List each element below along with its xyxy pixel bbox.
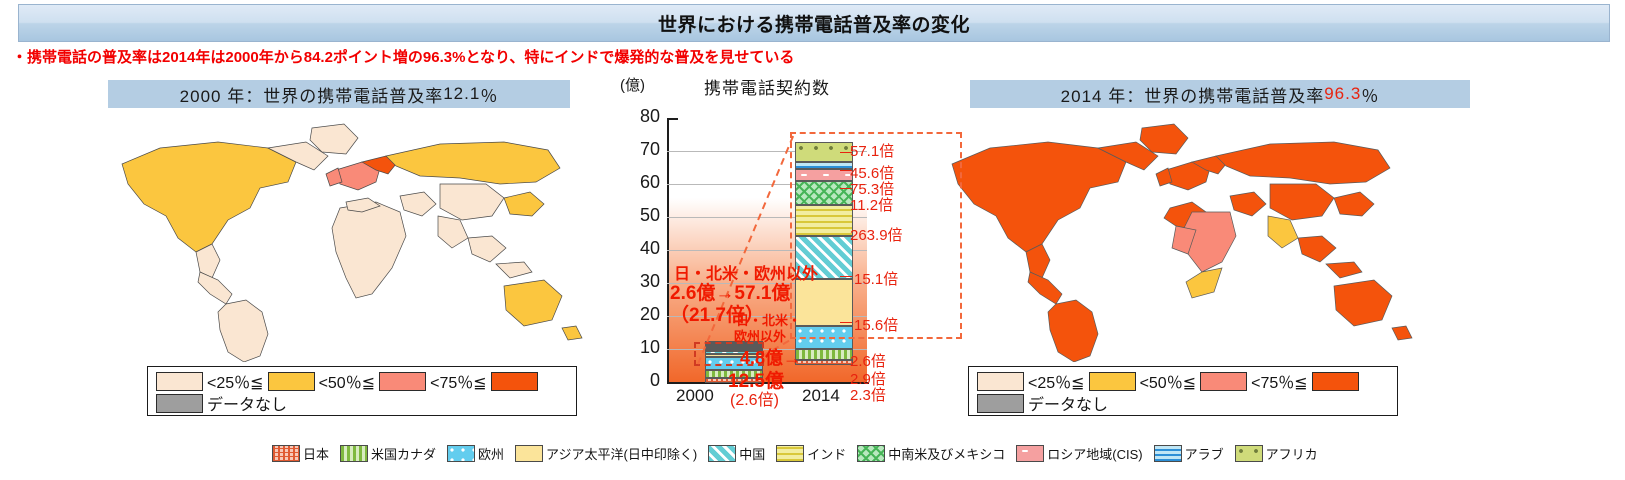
world-map-2000 [100, 112, 600, 362]
legend-item-russia: ロシア地域(CIS) [1016, 444, 1142, 463]
leader-china [840, 276, 852, 277]
legend-item-arab: アラブ [1154, 444, 1224, 463]
map-right-header-value: 96.3 [1324, 84, 1361, 104]
y-tick-80: 80 [620, 106, 660, 127]
map-legend-scale-row: <25％≦ <50％≦ <75％≦ [156, 370, 568, 392]
legend-text-china: 中国 [739, 444, 765, 463]
legend-swatch-gte75 [1312, 372, 1359, 391]
world-map-2014 [930, 112, 1510, 362]
growth-latam: 11.2倍 [850, 194, 893, 215]
legend-label-nodata: データなし [207, 391, 287, 415]
y-tick-30: 30 [620, 271, 660, 292]
legend-swatch-usca [340, 445, 368, 462]
y-tick-60: 60 [620, 172, 660, 193]
map-left-header: 2000 年：世界の携帯電話普及率 12.1％ [108, 80, 570, 108]
legend-swatch-arab [1154, 445, 1182, 462]
growth-china: 15.1倍 [854, 268, 898, 289]
legend-label-lt75: <75％≦ [1251, 369, 1308, 393]
legend-text-arab: アラブ [1185, 444, 1224, 463]
legend-swatch-india [776, 445, 804, 462]
leader-russia [840, 170, 852, 171]
legend-swatch-gte75 [491, 372, 538, 391]
growth-india: 263.9倍 [850, 224, 903, 245]
map-right-header-suffix: ％ [1361, 82, 1379, 107]
map-right-header-prefix: 2014 年：世界の携帯電話普及率 [1061, 82, 1325, 107]
legend-swatch-africa [1235, 445, 1263, 462]
map-legend-nodata-row-2: データなし [977, 392, 1389, 414]
legend-text-africa: アフリカ [1266, 444, 1318, 463]
legend-swatch-asia [515, 445, 543, 462]
x-tick-2014: 2014 [802, 386, 840, 406]
legend-swatch-lt25 [977, 372, 1024, 391]
leader-asia [840, 322, 852, 323]
leader-latam [840, 188, 852, 189]
annotation-small-line2: 欧州以外 [734, 326, 786, 345]
legend-swatch-europe [447, 445, 475, 462]
legend-item-japan: 日本 [272, 444, 329, 463]
chart-unit-label: (億) [620, 74, 645, 95]
legend-label-lt25: <25％≦ [207, 369, 264, 393]
legend-label-lt50: <50％≦ [1140, 369, 1197, 393]
legend-swatch-lt75 [1200, 372, 1247, 391]
page-title-bar: 世界における携帯電話普及率の変化 [18, 4, 1610, 42]
map-right-legend: <25％≦ <50％≦ <75％≦ データなし [968, 366, 1398, 416]
leader-arab [840, 152, 852, 153]
mobile-subscriptions-chart: (億) 携帯電話契約数 [612, 74, 964, 414]
x-tick-2000: 2000 [676, 386, 714, 406]
legend-item-india: インド [776, 444, 846, 463]
legend-swatch-lt50 [1089, 372, 1136, 391]
map-legend-nodata-row: データなし [156, 392, 568, 414]
legend-swatch-latam [857, 445, 885, 462]
map-left-header-prefix: 2000 年：世界の携帯電話普及率 [180, 82, 444, 107]
y-tick-40: 40 [620, 238, 660, 259]
legend-swatch-lt50 [268, 372, 315, 391]
legend-item-africa: アフリカ [1235, 444, 1318, 463]
y-axis-top-tick [667, 118, 678, 120]
growth-japan: 2.3倍 [850, 384, 886, 405]
legend-item-latam: 中南米及びメキシコ [857, 444, 1005, 463]
segment-2014-japan [795, 360, 853, 365]
legend-label-lt50: <50％≦ [319, 369, 376, 393]
legend-item-china: 中国 [708, 444, 765, 463]
y-tick-70: 70 [620, 139, 660, 160]
map-legend-scale-row-2: <25％≦ <50％≦ <75％≦ [977, 370, 1389, 392]
subtitle-text: ・携帯電話の普及率は2014年は2000年から84.2ポイント増の96.3%とな… [12, 44, 1612, 68]
legend-swatch-china [708, 445, 736, 462]
legend-label-lt25: <25％≦ [1028, 369, 1085, 393]
chart-title: 携帯電話契約数 [704, 74, 830, 99]
series-legend: 日本 米国カナダ 欧州 アジア太平洋(日中印除く) 中国 インド 中南米及びメキ… [272, 440, 1302, 466]
legend-swatch-lt75 [379, 372, 426, 391]
legend-text-asia: アジア太平洋(日中印除く) [546, 444, 697, 463]
annotation-small-line4: 12.5億 [728, 366, 784, 393]
y-tick-20: 20 [620, 304, 660, 325]
page-title: 世界における携帯電話普及率の変化 [658, 10, 970, 37]
map-right-header: 2014 年：世界の携帯電話普及率 96.3％ [970, 80, 1470, 108]
legend-text-india: インド [807, 444, 846, 463]
map-left-header-value: 12.1 [443, 84, 480, 104]
legend-item-europe: 欧州 [447, 444, 504, 463]
y-tick-50: 50 [620, 205, 660, 226]
legend-item-usca: 米国カナダ [340, 444, 436, 463]
legend-swatch-lt25 [156, 372, 203, 391]
growth-asia: 15.6倍 [854, 314, 898, 335]
legend-swatch-nodata [977, 394, 1024, 413]
legend-swatch-russia [1016, 445, 1044, 462]
segment-2014-usca [795, 349, 853, 360]
map-left-legend: <25％≦ <50％≦ <75％≦ データなし [147, 366, 577, 416]
legend-text-europe: 欧州 [478, 444, 504, 463]
legend-label-nodata: データなし [1028, 391, 1108, 415]
map-left-header-suffix: ％ [480, 82, 498, 107]
legend-text-latam: 中南米及びメキシコ [888, 444, 1005, 463]
y-tick-10: 10 [620, 337, 660, 358]
y-tick-0: 0 [620, 370, 660, 391]
legend-label-lt75: <75％≦ [430, 369, 487, 393]
legend-swatch-japan [272, 445, 300, 462]
growth-africa: 57.1倍 [850, 140, 894, 161]
legend-text-japan: 日本 [303, 444, 329, 463]
legend-swatch-nodata [156, 394, 203, 413]
legend-text-russia: ロシア地域(CIS) [1047, 444, 1142, 463]
legend-text-usca: 米国カナダ [371, 444, 436, 463]
legend-item-asia: アジア太平洋(日中印除く) [515, 444, 697, 463]
